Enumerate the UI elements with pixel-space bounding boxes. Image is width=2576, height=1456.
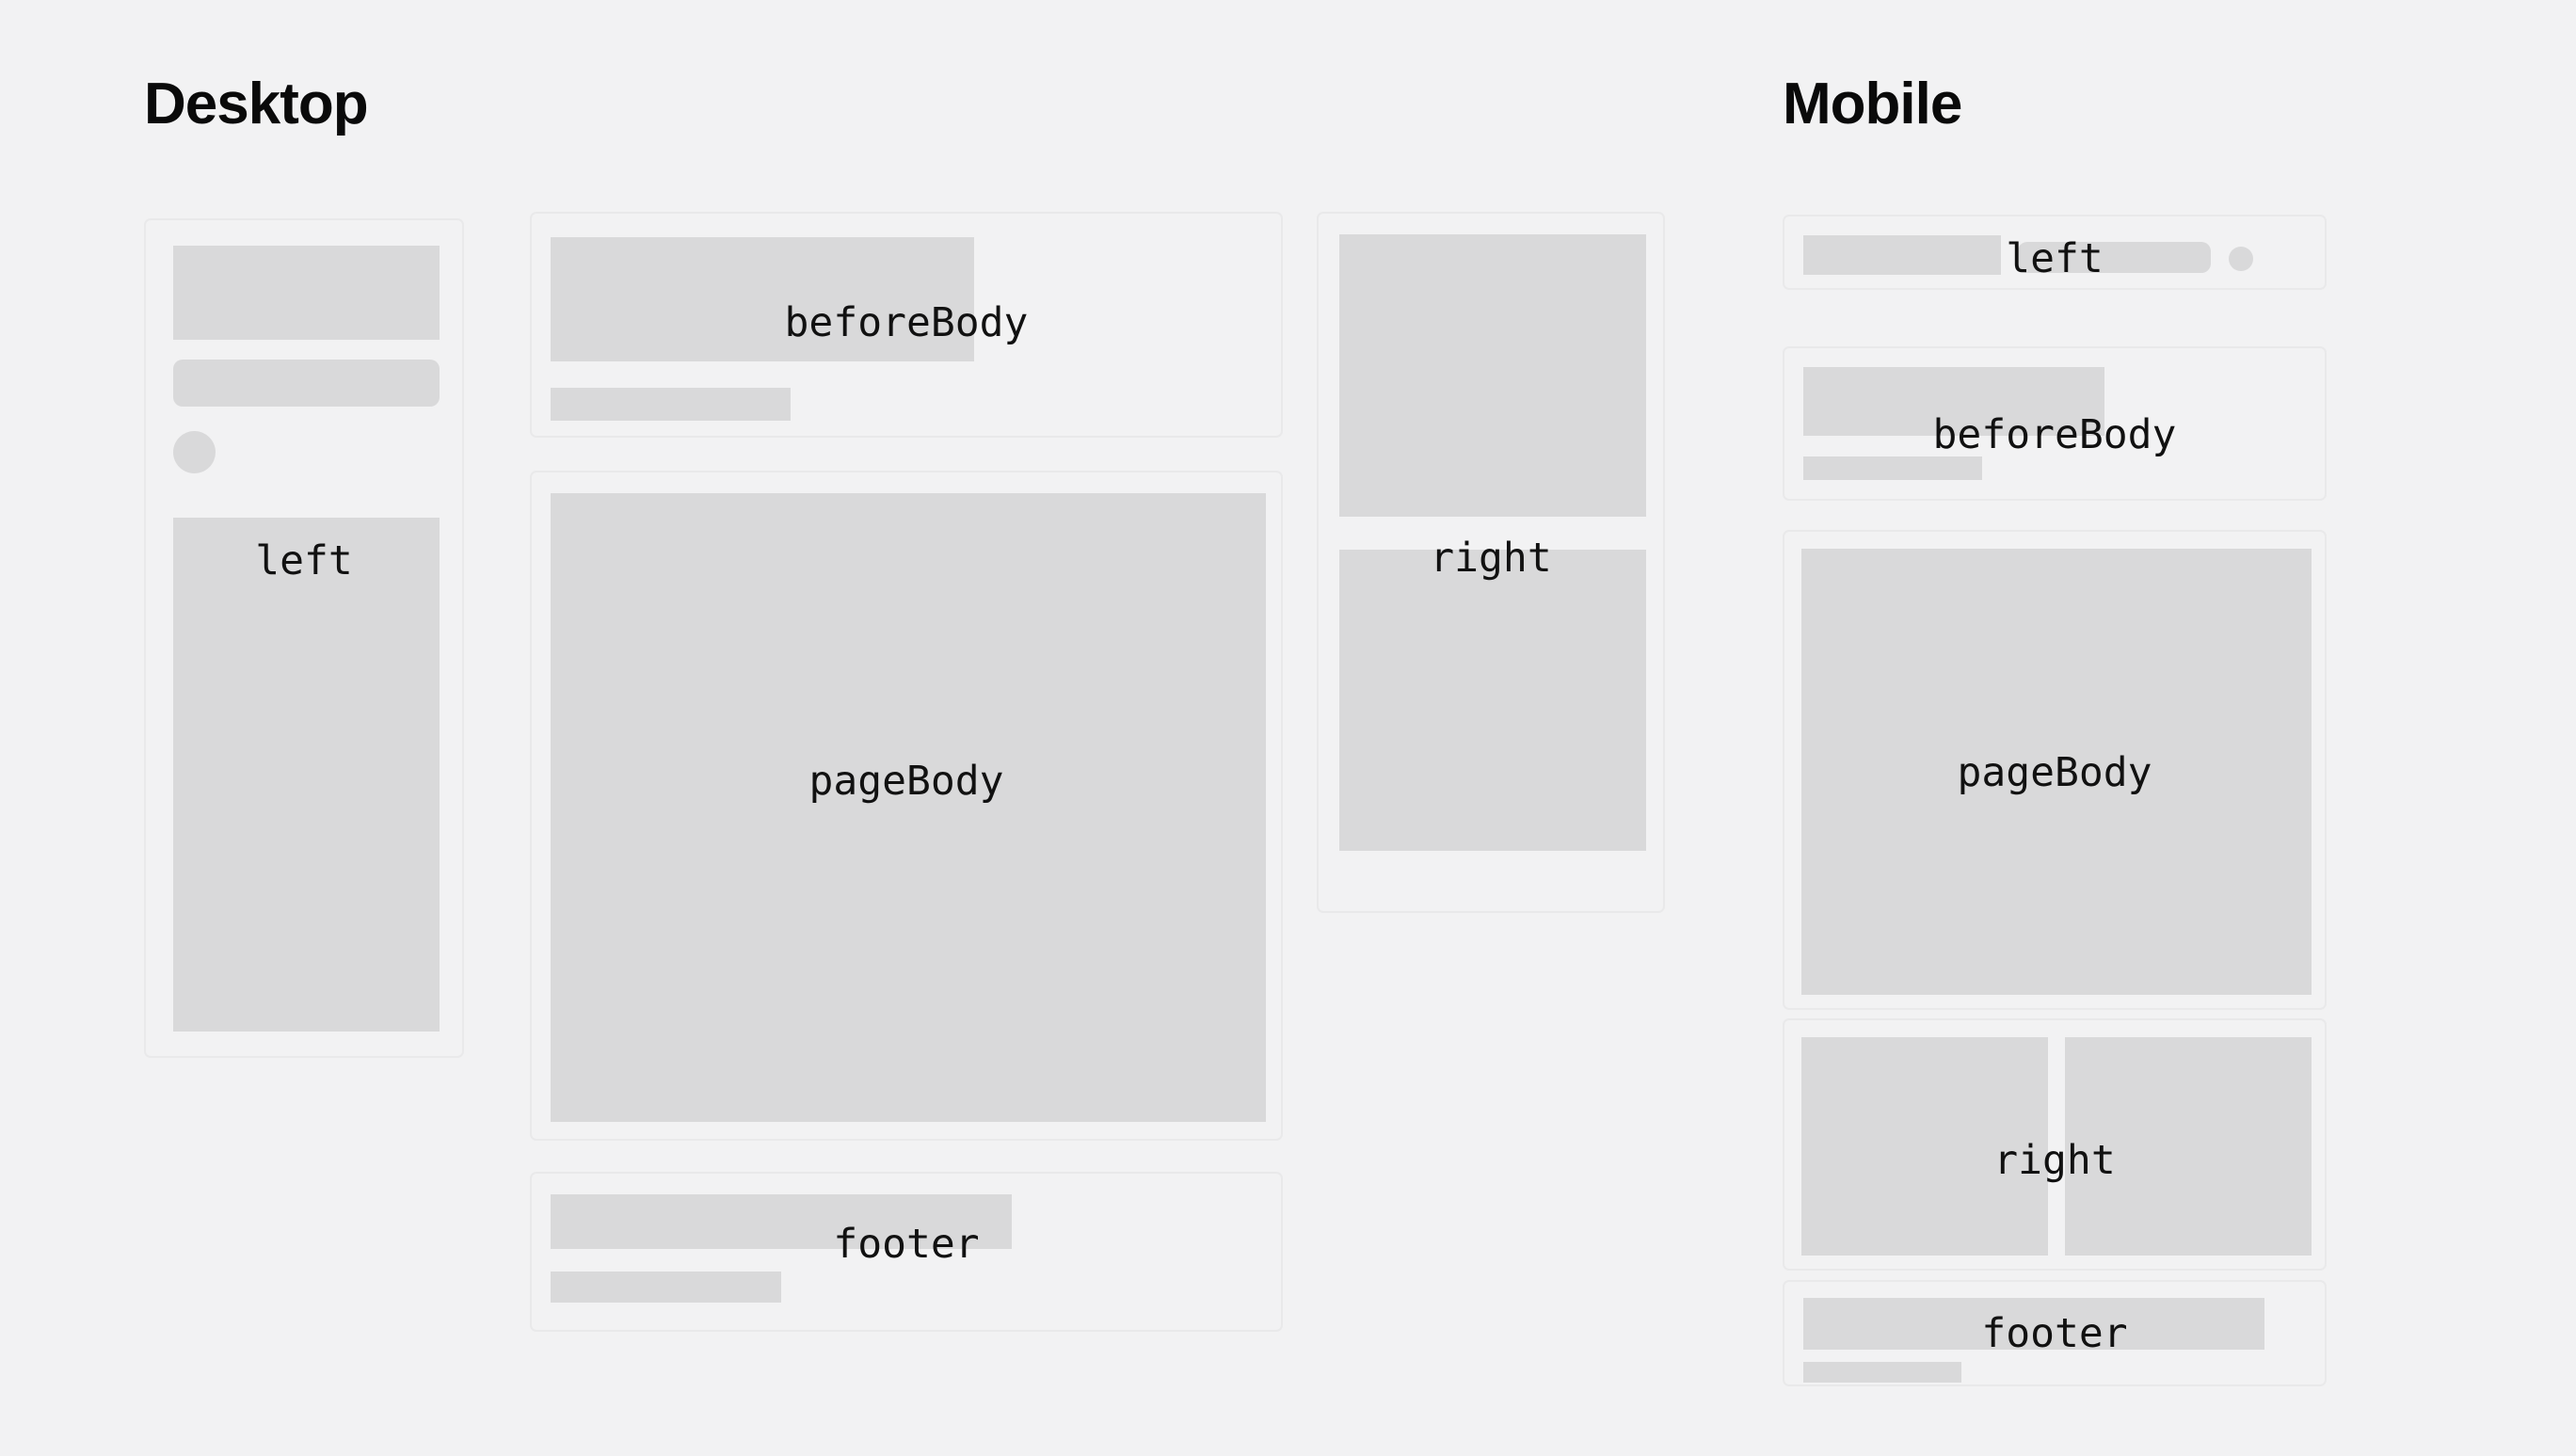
- skeleton-block-rect-wide: [551, 237, 974, 361]
- mobile-region-pagebody[interactable]: [1783, 530, 2327, 1010]
- skeleton-block-rect-top: [1339, 234, 1646, 517]
- desktop-region-beforebody[interactable]: [530, 212, 1283, 438]
- skeleton-block-bar-small: [551, 388, 791, 421]
- skeleton-block-bar-rounded: [2018, 242, 2211, 273]
- skeleton-block-rect-large: [173, 246, 440, 340]
- skeleton-block-circle: [173, 431, 216, 473]
- desktop-region-left[interactable]: [144, 218, 464, 1058]
- skeleton-block-rect-fill: [1801, 549, 2312, 995]
- skeleton-block-circle: [2229, 247, 2253, 271]
- skeleton-block-bar-wide: [551, 1194, 1012, 1249]
- skeleton-block-bar-small: [1803, 456, 1982, 480]
- mobile-section-title: Mobile: [1783, 75, 1961, 134]
- desktop-region-footer[interactable]: [530, 1172, 1283, 1332]
- skeleton-block-bar-wide: [1803, 1298, 2264, 1350]
- skeleton-block-rect-fill: [551, 493, 1266, 1122]
- mobile-region-footer[interactable]: [1783, 1280, 2327, 1386]
- skeleton-block-rect-left: [1801, 1037, 2048, 1256]
- mobile-region-beforebody[interactable]: [1783, 346, 2327, 501]
- skeleton-block-rect-right: [2065, 1037, 2312, 1256]
- skeleton-block-rect-tall: [173, 518, 440, 1032]
- desktop-section-title: Desktop: [144, 75, 368, 134]
- skeleton-block-rect-wide: [1803, 367, 2104, 436]
- skeleton-block-rect-bottom: [1339, 550, 1646, 851]
- skeleton-block-bar-rounded: [173, 360, 440, 407]
- skeleton-block-bar-small: [551, 1272, 781, 1303]
- skeleton-block-bar-small: [1803, 1362, 1961, 1383]
- desktop-region-pagebody[interactable]: [530, 471, 1283, 1141]
- desktop-region-right[interactable]: [1317, 212, 1665, 913]
- mobile-region-left[interactable]: [1783, 215, 2327, 290]
- skeleton-block-rect-small: [1803, 235, 2001, 275]
- mobile-region-right[interactable]: [1783, 1018, 2327, 1271]
